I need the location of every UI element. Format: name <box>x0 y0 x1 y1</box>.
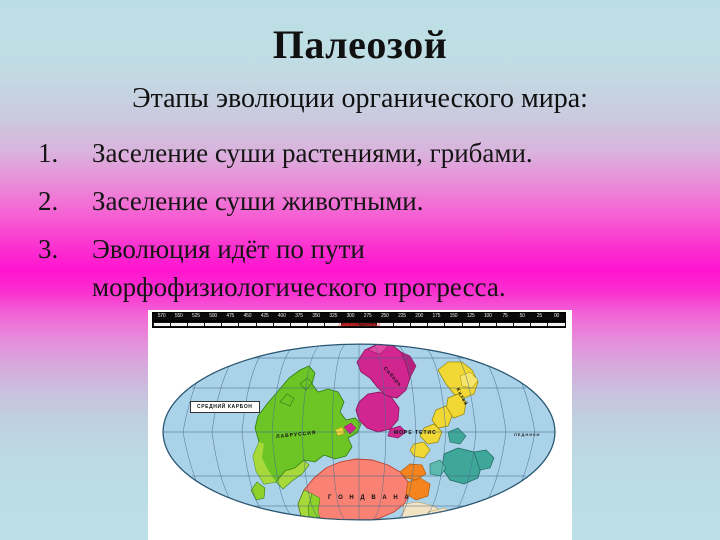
timescale-period-cell <box>394 323 410 326</box>
timescale-tick-label: 00 <box>548 313 565 320</box>
map-label-right-edge: ЛЕДНИКИ <box>514 432 540 437</box>
list-item-text: Заселение суши животными. <box>92 182 688 220</box>
timescale-period-cell <box>497 323 513 326</box>
map-epoch-label: СРЕДНИЙ КАРБОН <box>190 401 260 413</box>
timescale-period-cell <box>325 323 341 326</box>
timescale-period-cell <box>377 323 393 326</box>
timescale-period-cell <box>428 323 444 326</box>
timescale-period-cell <box>239 323 255 326</box>
timescale-period-cell <box>257 323 273 326</box>
timescale-period-cell <box>548 323 564 326</box>
list-item-number: 3. <box>38 230 92 268</box>
timescale-tick-label: 325 <box>325 313 342 320</box>
timescale-period-cell <box>463 323 479 326</box>
timescale-period-cell <box>154 323 170 326</box>
timescale-period-cell <box>514 323 530 326</box>
timescale-tick-label: 225 <box>393 313 410 320</box>
paleogeographic-map: 5705505255004754504254003753503253002752… <box>148 310 572 540</box>
timescale-period-cell <box>171 323 187 326</box>
list-item-number: 2. <box>38 182 92 220</box>
world-map-oval: СРЕДНИЙ КАРБОН ЛАВРУССИЯ МОРЕ ТЕТИС Г О … <box>152 332 566 532</box>
evolution-stages-list: 1. Заселение суши растениями, грибами. 2… <box>38 134 688 316</box>
slide-canvas: Палеозой Этапы эволюции органического ми… <box>0 0 720 540</box>
timescale-tick-label: 425 <box>256 313 273 320</box>
page-title: Палеозой <box>0 22 720 68</box>
list-item: 3. Эволюция идёт по пути морфофизиологич… <box>38 230 688 306</box>
timescale-period-cell <box>222 323 238 326</box>
list-item: 1. Заселение суши растениями, грибами. <box>38 134 688 172</box>
timescale-tick-label: 450 <box>239 313 256 320</box>
timescale-tick-label: 400 <box>273 313 290 320</box>
timescale-tick-label: 525 <box>187 313 204 320</box>
timescale-period-cell <box>411 323 427 326</box>
timescale-tick-label: 100 <box>479 313 496 320</box>
list-item-text-line2: морфофизиологического прогресса. <box>92 268 688 306</box>
timescale-tick-label: 275 <box>359 313 376 320</box>
list-item-text: Эволюция идёт по пути морфофизиологическ… <box>92 230 688 306</box>
timescale-tick-label: 550 <box>170 313 187 320</box>
timescale-period-cell <box>205 323 221 326</box>
timescale-period-cell <box>342 323 358 326</box>
timescale-tick-label: 200 <box>411 313 428 320</box>
slide-subtitle: Этапы эволюции органического мира: <box>0 82 720 116</box>
timescale-period-cell <box>291 323 307 326</box>
timescale-tick-label: 175 <box>428 313 445 320</box>
map-label-tethys: МОРЕ ТЕТИС <box>394 430 437 436</box>
geologic-timescale-ticks <box>152 321 566 328</box>
timescale-period-cell <box>480 323 496 326</box>
timescale-tick-label: 570 <box>153 313 170 320</box>
world-map-svg <box>152 332 566 532</box>
timescale-period-cell <box>274 323 290 326</box>
timescale-tick-label: 300 <box>342 313 359 320</box>
timescale-period-cell <box>445 323 461 326</box>
timescale-tick-label: 50 <box>514 313 531 320</box>
timescale-tick-label: 500 <box>205 313 222 320</box>
timescale-tick-label: 125 <box>462 313 479 320</box>
timescale-tick-label: 150 <box>445 313 462 320</box>
timescale-period-cell <box>308 323 324 326</box>
timescale-tick-label: 25 <box>531 313 548 320</box>
timescale-tick-label: 375 <box>290 313 307 320</box>
list-item-text-line1: Эволюция идёт по пути <box>92 230 688 268</box>
timescale-period-cell <box>188 323 204 326</box>
list-item: 2. Заселение суши животными. <box>38 182 688 220</box>
timescale-tick-label: 250 <box>376 313 393 320</box>
timescale-period-cell <box>531 323 547 326</box>
timescale-tick-label: 350 <box>308 313 325 320</box>
map-label-gondwana: Г О Н Д В А Н А <box>328 495 411 501</box>
timescale-period-cell <box>360 323 376 326</box>
list-item-number: 1. <box>38 134 92 172</box>
geologic-timescale-bar: 5705505255004754504254003753503253002752… <box>152 312 566 321</box>
timescale-tick-label: 75 <box>496 313 513 320</box>
timescale-tick-label: 475 <box>222 313 239 320</box>
list-item-text: Заселение суши растениями, грибами. <box>92 134 688 172</box>
